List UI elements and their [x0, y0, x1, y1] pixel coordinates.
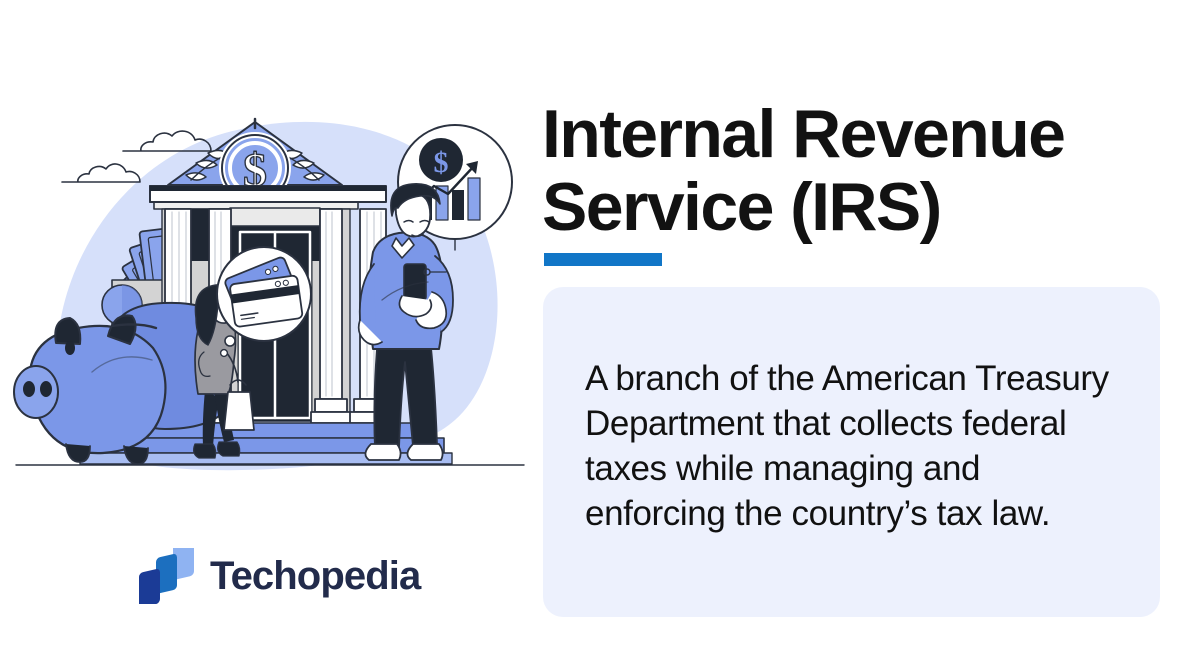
poster-canvas: $: [0, 0, 1200, 670]
svg-text:$: $: [434, 146, 449, 179]
techopedia-wordmark: Techopedia: [210, 556, 420, 596]
page-title-line-2: Service (IRS): [542, 169, 941, 245]
page-title-line-1: Internal Revenue: [542, 96, 1064, 172]
definition-card: A branch of the American Treasury Depart…: [543, 287, 1160, 617]
title-accent-bar: [544, 253, 662, 266]
techopedia-logo-mark: [139, 548, 197, 604]
cloud-icon-2: [62, 164, 140, 182]
definition-text: A branch of the American Treasury Depart…: [585, 356, 1120, 537]
irs-illustration: $: [0, 0, 540, 540]
techopedia-logo[interactable]: Techopedia: [139, 548, 420, 604]
page-title: Internal Revenue Service (IRS): [542, 98, 1192, 245]
